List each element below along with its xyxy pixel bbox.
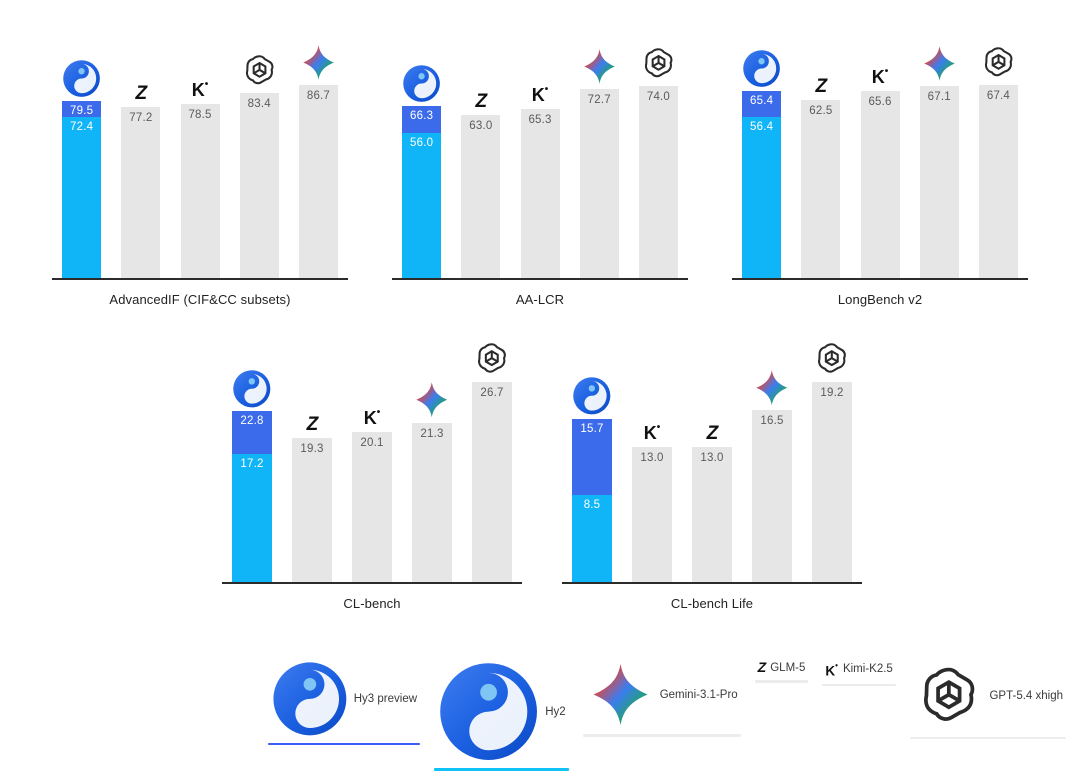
bar-column: 16.5 bbox=[752, 366, 792, 584]
axis-line bbox=[562, 582, 862, 584]
bar-baseline: 19.3 bbox=[292, 438, 332, 584]
glm-z-icon: Z bbox=[758, 660, 766, 675]
legend-rule bbox=[755, 680, 809, 683]
bar-value: 19.2 bbox=[812, 387, 852, 399]
chart-panel: 79.572.4Z77.2K•78.583.486.7AdvancedIF (C… bbox=[52, 62, 348, 318]
bar-baseline: 16.5 bbox=[752, 410, 792, 584]
bar-baseline: 62.5 bbox=[801, 100, 840, 281]
bar-value: 65.6 bbox=[861, 96, 900, 108]
bar-value: 16.5 bbox=[752, 415, 792, 427]
bar-column: 21.3 bbox=[412, 366, 452, 584]
kimi-k-icon: K• bbox=[872, 63, 889, 88]
bar-column: Z62.5 bbox=[801, 62, 840, 280]
bar-value: 77.2 bbox=[121, 112, 160, 124]
legend-label: GPT-5.4 xhigh bbox=[989, 690, 1063, 702]
legend-label: Gemini-3.1-Pro bbox=[660, 689, 738, 701]
bar-value-hy3: 15.7 bbox=[572, 423, 612, 435]
legend-label: Kimi-K2.5 bbox=[843, 663, 893, 675]
bar-model-icon: Z bbox=[692, 422, 732, 444]
plot-area: 79.572.4Z77.2K•78.583.486.7 bbox=[52, 62, 348, 280]
bar-column: 72.7 bbox=[580, 62, 619, 280]
bar-value: 26.7 bbox=[472, 387, 512, 399]
bar-model-icon: K• bbox=[861, 66, 900, 88]
openai-icon bbox=[639, 44, 678, 83]
bar-baseline: 26.7 bbox=[472, 382, 512, 584]
bar-baseline: 63.0 bbox=[461, 115, 500, 281]
bar-column: Z77.2 bbox=[121, 62, 160, 280]
bar-baseline: 13.0 bbox=[632, 447, 672, 584]
bar-model-icon: K• bbox=[352, 407, 392, 429]
axis-line bbox=[392, 278, 688, 280]
legend-row: K•Kimi-K2.5 bbox=[822, 660, 895, 679]
bar-value: 74.0 bbox=[639, 91, 678, 103]
bar-value-hy3: 22.8 bbox=[232, 415, 272, 427]
bar-column: 86.7 bbox=[299, 62, 338, 280]
chart-panel: 15.78.5K•13.0Z13.016.519.2CL-bench Life bbox=[562, 366, 862, 622]
hunyuan-icon bbox=[402, 64, 441, 103]
legend-row: Hy3 preview bbox=[268, 660, 420, 738]
bar-column: 22.817.2 bbox=[232, 366, 272, 584]
bar-baseline: 83.4 bbox=[240, 93, 279, 280]
bar-column: 74.0 bbox=[639, 62, 678, 280]
kimi-k-icon: K• bbox=[364, 404, 381, 429]
gemini-sparkle-icon bbox=[580, 47, 619, 86]
bar-model-icon bbox=[572, 394, 612, 416]
legend-rule bbox=[268, 743, 420, 746]
kimi-k-icon: K• bbox=[825, 660, 838, 679]
bar-value: 21.3 bbox=[412, 428, 452, 440]
bar-baseline: 20.1 bbox=[352, 432, 392, 584]
glm-z-icon: Z bbox=[307, 414, 318, 435]
axis-line bbox=[52, 278, 348, 280]
bar-value: 13.0 bbox=[692, 452, 732, 464]
bar-baseline: 67.1 bbox=[920, 86, 959, 280]
bar-value: 78.5 bbox=[181, 109, 220, 121]
bar-column: 66.356.0 bbox=[402, 62, 441, 280]
bar-model-icon bbox=[299, 60, 338, 82]
bar-baseline: 65.6 bbox=[861, 91, 900, 280]
bar-column: Z13.0 bbox=[692, 366, 732, 584]
bar-model-icon bbox=[742, 66, 781, 88]
bar-value-hy2: 8.5 bbox=[572, 499, 612, 511]
kimi-k-icon: K• bbox=[192, 76, 209, 101]
axis-line bbox=[732, 278, 1028, 280]
bar-value: 83.4 bbox=[240, 98, 279, 110]
bar-value-hy3: 65.4 bbox=[742, 95, 781, 107]
bar-model-icon: Z bbox=[801, 75, 840, 97]
legend-item[interactable]: K•Kimi-K2.5 bbox=[822, 660, 895, 686]
glm-z-icon: Z bbox=[136, 83, 147, 104]
bar-column: 79.572.4 bbox=[62, 62, 101, 280]
glm-z-icon: Z bbox=[707, 423, 718, 444]
gemini-sparkle-icon bbox=[752, 368, 792, 408]
legend-item[interactable]: Gemini-3.1-Pro bbox=[583, 660, 741, 737]
bar-value-hy3: 66.3 bbox=[402, 110, 441, 122]
bar-model-icon bbox=[920, 61, 959, 83]
bar-model-icon bbox=[62, 76, 101, 98]
bar-model-icon bbox=[472, 357, 512, 379]
legend-rule bbox=[583, 734, 741, 737]
bar-column: K•65.6 bbox=[861, 62, 900, 280]
glm-z-icon: Z bbox=[816, 76, 827, 97]
gemini-sparkle-icon bbox=[920, 44, 959, 83]
bar-column: K•13.0 bbox=[632, 366, 672, 584]
legend-row: GPT-5.4 xhigh bbox=[910, 660, 1066, 732]
bar-value-hy2: 72.4 bbox=[62, 121, 101, 133]
bar-model-icon bbox=[402, 81, 441, 103]
panel-title: CL-bench Life bbox=[562, 596, 862, 611]
legend-label: GLM-5 bbox=[770, 662, 805, 674]
hunyuan-icon bbox=[572, 376, 612, 416]
bar-value-hy2: 56.4 bbox=[742, 121, 781, 133]
bar-value: 13.0 bbox=[632, 452, 672, 464]
panel-title: CL-bench bbox=[222, 596, 522, 611]
openai-icon bbox=[240, 51, 279, 90]
bar-primary: 65.456.4 bbox=[742, 91, 781, 280]
plot-area: 22.817.2Z19.3K•20.121.326.7 bbox=[222, 366, 522, 584]
openai-icon bbox=[472, 339, 512, 379]
bar-baseline: 19.2 bbox=[812, 382, 852, 584]
hunyuan-icon bbox=[742, 49, 781, 88]
bar-model-icon bbox=[639, 61, 678, 83]
gemini-sparkle-icon bbox=[299, 43, 338, 82]
bar-primary: 22.817.2 bbox=[232, 411, 272, 584]
legend-item[interactable]: Hy2 bbox=[434, 660, 569, 771]
legend-item[interactable]: GPT-5.4 xhigh bbox=[910, 660, 1066, 739]
bar-value: 86.7 bbox=[299, 90, 338, 102]
bar-baseline: 78.5 bbox=[181, 104, 220, 280]
bar-value: 65.3 bbox=[521, 114, 560, 126]
glm-z-icon: Z bbox=[476, 91, 487, 112]
bar-primary: 66.356.0 bbox=[402, 106, 441, 280]
kimi-k-icon: K• bbox=[532, 81, 549, 106]
legend-row: ZGLM-5 bbox=[755, 660, 809, 675]
hunyuan-icon bbox=[62, 59, 101, 98]
bar-value-hy2: 56.0 bbox=[402, 137, 441, 149]
bar-baseline: 74.0 bbox=[639, 86, 678, 280]
hunyuan-icon bbox=[232, 369, 272, 409]
panel-title: LongBench v2 bbox=[732, 292, 1028, 307]
bar-model-icon bbox=[232, 386, 272, 408]
bar-primary: 79.572.4 bbox=[62, 101, 101, 280]
bar-value-hy2: 17.2 bbox=[232, 458, 272, 470]
bar-column: Z63.0 bbox=[461, 62, 500, 280]
bar-column: K•20.1 bbox=[352, 366, 392, 584]
bar-model-icon bbox=[979, 60, 1018, 82]
legend-item[interactable]: Hy3 preview bbox=[268, 660, 420, 745]
chart-legend: Hy3 previewHy2Gemini-3.1-ProZGLM-5K•Kimi… bbox=[268, 660, 1080, 771]
bar-column: K•65.3 bbox=[521, 62, 560, 280]
hunyuan-icon bbox=[437, 660, 540, 763]
bar-model-icon bbox=[580, 64, 619, 86]
bar-column: 19.2 bbox=[812, 366, 852, 584]
plot-area: 65.456.4Z62.5K•65.667.167.4 bbox=[732, 62, 1028, 280]
bar-value: 72.7 bbox=[580, 94, 619, 106]
openai-icon bbox=[812, 339, 852, 379]
bar-value: 67.1 bbox=[920, 91, 959, 103]
legend-row: Gemini-3.1-Pro bbox=[583, 660, 741, 729]
bar-column: 83.4 bbox=[240, 62, 279, 280]
bar-value: 20.1 bbox=[352, 437, 392, 449]
legend-row: Hy2 bbox=[434, 660, 569, 763]
panel-title: AdvancedIF (CIF&CC subsets) bbox=[52, 292, 348, 307]
bar-column: K•78.5 bbox=[181, 62, 220, 280]
bar-value: 62.5 bbox=[801, 105, 840, 117]
legend-rule bbox=[434, 768, 569, 771]
bar-column: Z19.3 bbox=[292, 366, 332, 584]
bar-baseline: 72.7 bbox=[580, 89, 619, 280]
bar-column: 67.1 bbox=[920, 62, 959, 280]
bar-column: 26.7 bbox=[472, 366, 512, 584]
bar-value-hy3: 79.5 bbox=[62, 105, 101, 117]
bar-model-icon: K• bbox=[521, 84, 560, 106]
bar-value: 19.3 bbox=[292, 443, 332, 455]
plot-area: 66.356.0Z63.0K•65.372.774.0 bbox=[392, 62, 688, 280]
bar-baseline: 67.4 bbox=[979, 85, 1018, 280]
chart-panel: 65.456.4Z62.5K•65.667.167.4LongBench v2 bbox=[732, 62, 1028, 318]
kimi-k-icon: K• bbox=[644, 419, 661, 444]
chart-panel: 66.356.0Z63.0K•65.372.774.0AA-LCR bbox=[392, 62, 688, 318]
legend-rule bbox=[910, 737, 1066, 740]
gemini-sparkle-icon bbox=[586, 660, 655, 729]
bar-model-icon: K• bbox=[181, 79, 220, 101]
hunyuan-icon bbox=[271, 660, 349, 738]
bar-column: 67.4 bbox=[979, 62, 1018, 280]
bar-model-icon bbox=[752, 385, 792, 407]
bar-model-icon bbox=[240, 68, 279, 90]
openai-icon bbox=[979, 43, 1018, 82]
bar-model-icon bbox=[412, 398, 452, 420]
bar-baseline: 21.3 bbox=[412, 423, 452, 584]
bar-value: 63.0 bbox=[461, 120, 500, 132]
bar-baseline: 86.7 bbox=[299, 85, 338, 280]
benchmark-chart: 79.572.4Z77.2K•78.583.486.7AdvancedIF (C… bbox=[0, 0, 1080, 716]
bar-primary: 15.78.5 bbox=[572, 419, 612, 584]
bar-column: 15.78.5 bbox=[572, 366, 612, 584]
chart-panel: 22.817.2Z19.3K•20.121.326.7CL-bench bbox=[222, 366, 522, 622]
bar-baseline: 77.2 bbox=[121, 107, 160, 281]
bar-model-icon: K• bbox=[632, 422, 672, 444]
bar-model-icon: Z bbox=[121, 82, 160, 104]
legend-rule bbox=[822, 684, 895, 687]
plot-area: 15.78.5K•13.0Z13.016.519.2 bbox=[562, 366, 862, 584]
openai-icon bbox=[913, 660, 985, 732]
bar-baseline: 65.3 bbox=[521, 109, 560, 281]
bar-baseline: 13.0 bbox=[692, 447, 732, 584]
gemini-sparkle-icon bbox=[412, 380, 452, 420]
panel-title: AA-LCR bbox=[392, 292, 688, 307]
bar-column: 65.456.4 bbox=[742, 62, 781, 280]
bar-model-icon: Z bbox=[292, 413, 332, 435]
bar-value: 67.4 bbox=[979, 90, 1018, 102]
axis-line bbox=[222, 582, 522, 584]
legend-item[interactable]: ZGLM-5 bbox=[755, 660, 809, 683]
bar-model-icon bbox=[812, 357, 852, 379]
bar-model-icon: Z bbox=[461, 90, 500, 112]
legend-label: Hy3 preview bbox=[354, 693, 417, 705]
